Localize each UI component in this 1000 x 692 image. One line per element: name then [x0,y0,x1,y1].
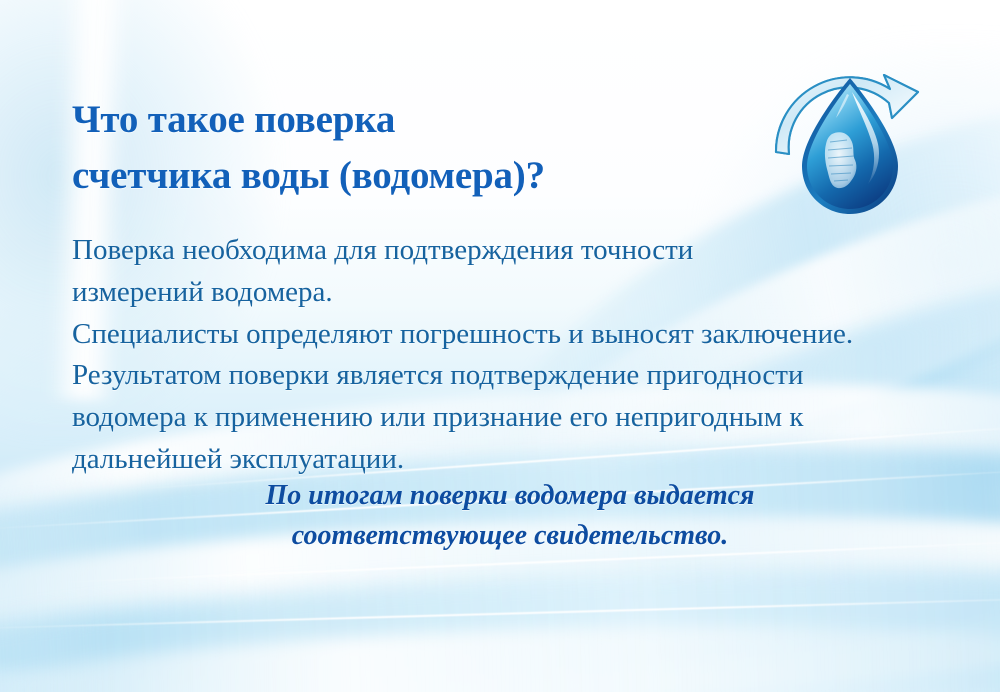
page-title: Что такое поверка счетчика воды (водомер… [72,92,732,203]
emphasis-statement: По итогам поверки водомера выдается соот… [60,476,960,557]
body-line-6: дальнейшей эксплуатации. [72,439,952,481]
body-paragraph: Поверка необходима для подтверждения точ… [72,230,952,481]
slide-content: Что такое поверка счетчика воды (водомер… [0,0,1000,692]
slide-canvas: Что такое поверка счетчика воды (водомер… [0,0,1000,692]
emphasis-line-1: По итогам поверки водомера выдается [60,476,960,516]
body-line-5: водомера к применению или признание его … [72,397,952,439]
body-line-2: измерений водомера. [72,272,952,314]
emphasis-line-2: соответствующее свидетельство. [60,516,960,556]
page-title-line-2: счетчика воды (водомера)? [72,148,732,203]
body-line-4: Результатом поверки является подтвержден… [72,355,952,397]
water-drop-recycle-logo [748,48,952,244]
page-title-line-1: Что такое поверка [72,92,732,147]
body-line-3: Специалисты определяют погрешность и вын… [72,314,952,356]
